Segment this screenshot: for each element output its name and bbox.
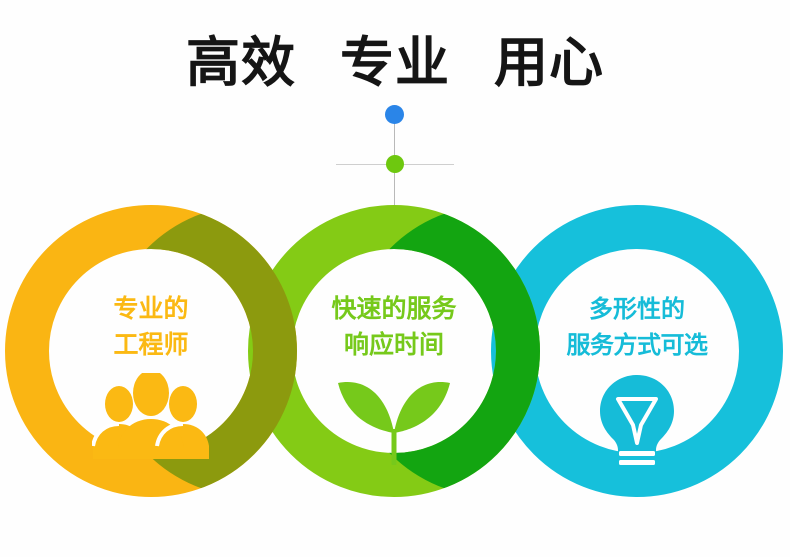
green-dot-icon [386,155,404,173]
circle-service-modes[interactable]: 多形性的 服务方式可选 [491,205,783,497]
headline-word-2: 专业 [340,32,450,94]
connector-horizontal-line [336,164,454,165]
headline-word-3: 用心 [494,32,604,94]
circle-service-modes-line-1: 多形性的 [491,291,783,327]
infographic-canvas: 高效专业用心 专业的 工程师 [0,0,790,557]
lightbulb-icon [491,373,783,477]
page-title: 高效专业用心 [0,32,790,94]
headline-word-1: 高效 [186,32,296,94]
circle-service-modes-label: 多形性的 服务方式可选 [491,291,783,363]
blue-dot-icon [385,105,404,124]
connector-vertical-line [394,113,395,205]
circle-service-modes-line-2: 服务方式可选 [491,327,783,363]
